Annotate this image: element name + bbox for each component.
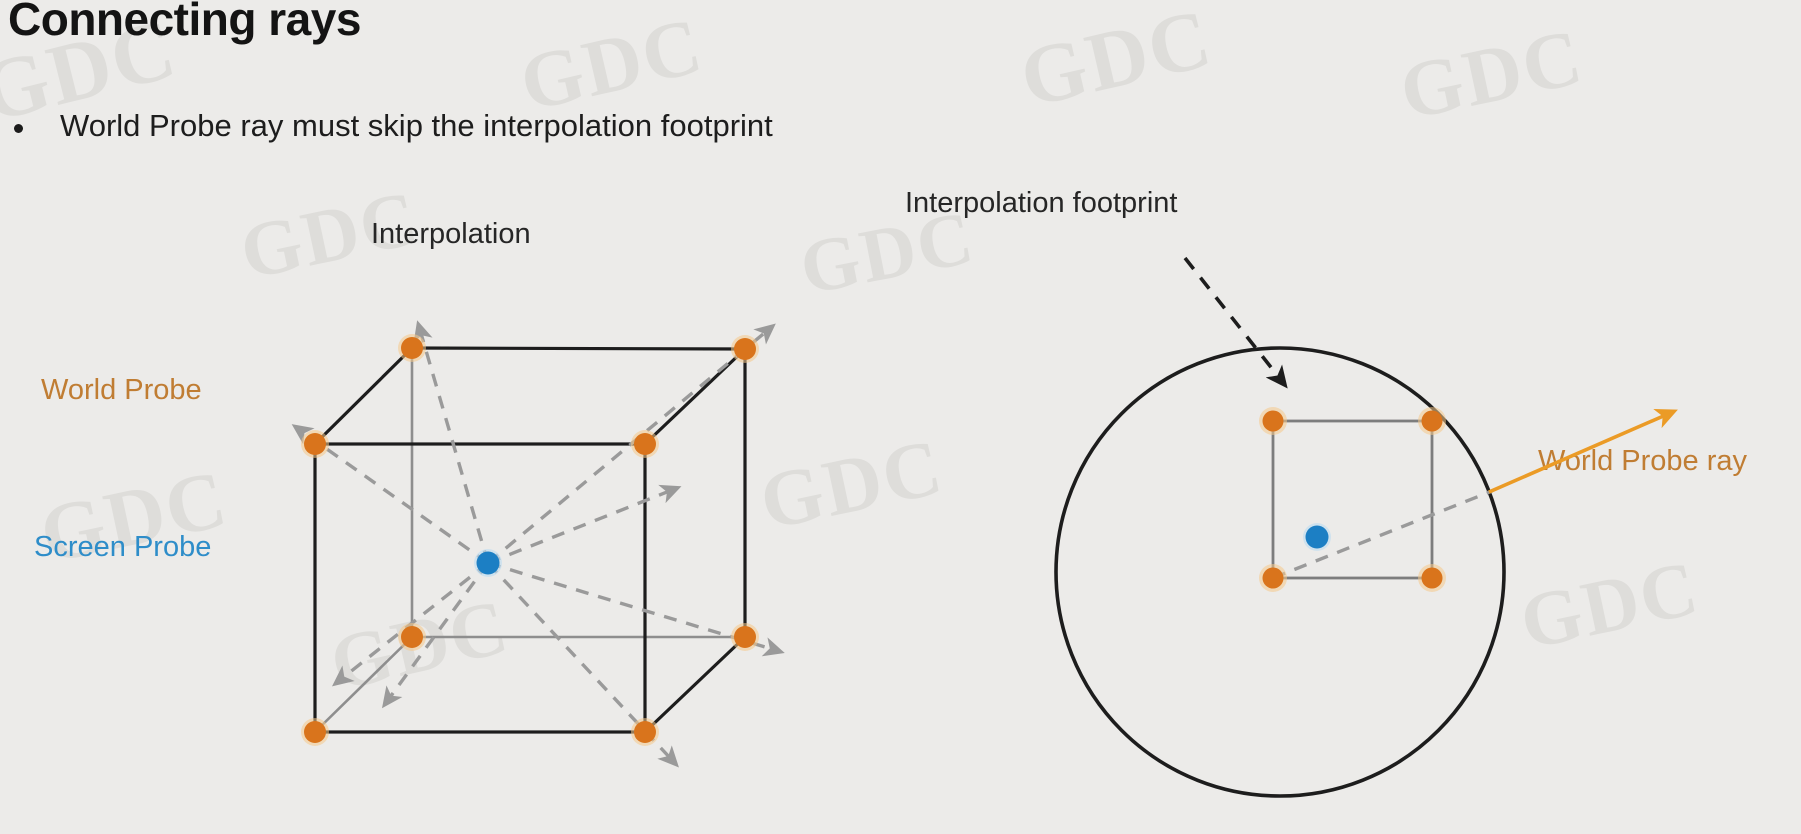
interpolation-footprint-square: [1273, 421, 1432, 578]
diagram-layer: [0, 0, 1801, 834]
world-probe-ray-solid: [1489, 414, 1668, 492]
cube-screen-probe-dot: [474, 549, 502, 577]
footprint-world-probe-vertices: [1259, 407, 1446, 592]
footprint-diagram: [1056, 258, 1668, 796]
footprint-screen-probe-dot: [1303, 523, 1331, 551]
cube-edges: [315, 348, 745, 732]
cube-diagram: [300, 330, 775, 760]
cube-interpolation-rays: [300, 330, 775, 760]
cube-hidden-edges: [315, 348, 745, 732]
slide-canvas: GDC GDC GDC GDC GDC GDC GDC GDC GDC GDC …: [0, 0, 1801, 834]
